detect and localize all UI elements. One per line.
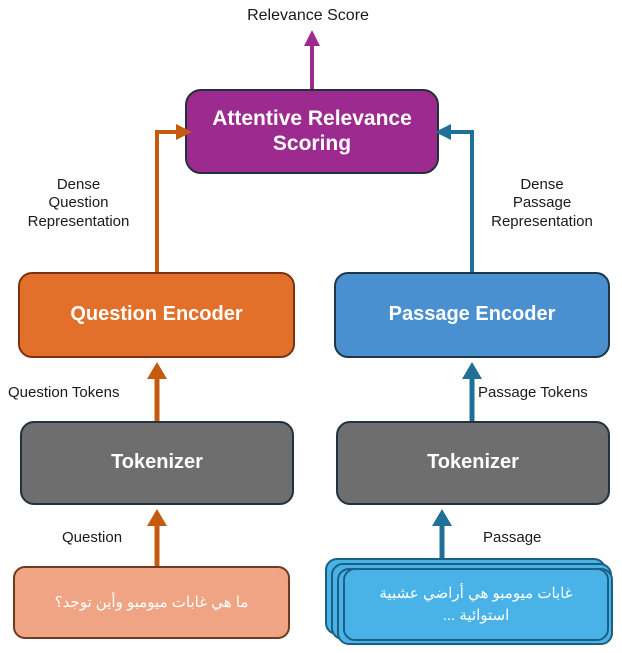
question-input-text: ما هي غابات ميومبو وأين توجد؟ — [55, 592, 249, 614]
question-tokens-label: Question Tokens — [8, 384, 143, 402]
node-passage-encoder-label: Passage Encoder — [389, 303, 556, 327]
question-edge-label: Question — [62, 529, 144, 547]
connector-question-encoder-to-scoring — [140, 118, 196, 280]
passage-tokens-label: Passage Tokens — [478, 384, 618, 402]
node-attentive-relevance-scoring-label: Attentive Relevance Scoring — [187, 107, 437, 157]
node-passage-tokenizer-label: Tokenizer — [427, 451, 519, 475]
dense-passage-representation-label: Dense Passage Representation — [471, 176, 613, 231]
node-question-encoder-label: Question Encoder — [70, 303, 242, 327]
dense-question-representation-label: Dense Question Representation — [10, 176, 147, 231]
arrow-question-tokenizer-to-encoder — [145, 360, 169, 422]
question-input-card[interactable]: ما هي غابات ميومبو وأين توجد؟ — [13, 566, 290, 639]
node-question-encoder[interactable]: Question Encoder — [18, 272, 295, 358]
passage-edge-label: Passage — [483, 529, 565, 547]
node-passage-tokenizer[interactable]: Tokenizer — [336, 421, 610, 505]
arrow-question-to-tokenizer — [145, 507, 169, 569]
node-attentive-relevance-scoring[interactable]: Attentive Relevance Scoring — [185, 89, 439, 174]
arrow-scoring-to-score — [300, 28, 324, 94]
node-passage-encoder[interactable]: Passage Encoder — [334, 272, 610, 358]
passage-input-text: غابات ميومبو هي أراضي عشبية استوائية ... — [357, 583, 595, 627]
node-question-tokenizer-label: Tokenizer — [111, 451, 203, 475]
relevance-score-label: Relevance Score — [213, 6, 403, 26]
node-question-tokenizer[interactable]: Tokenizer — [20, 421, 294, 505]
diagram-canvas: Relevance Score Attentive Relevance Scor… — [0, 0, 622, 653]
passage-input-card[interactable]: غابات ميومبو هي أراضي عشبية استوائية ... — [343, 568, 609, 641]
